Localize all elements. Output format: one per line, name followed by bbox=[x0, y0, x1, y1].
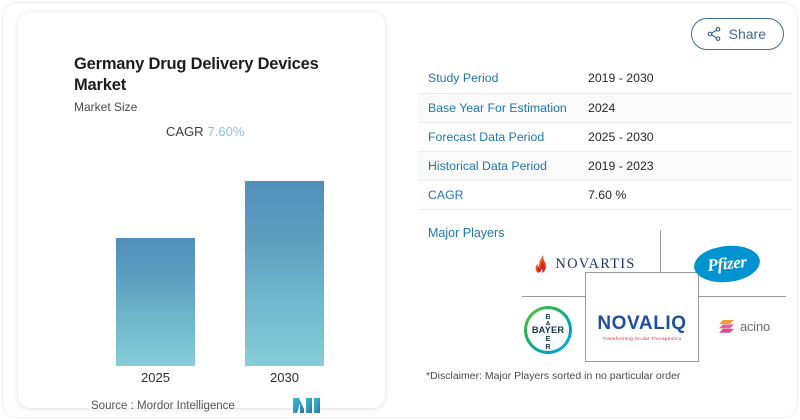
pfizer-logo: Pfizer bbox=[672, 238, 782, 290]
market-size-chart-card: Germany Drug Delivery Devices Market Mar… bbox=[18, 12, 385, 408]
table-row: Study Period 2019 - 2030 bbox=[418, 64, 792, 93]
source-name: Mordor Intelligence bbox=[137, 400, 235, 412]
row-key: Historical Data Period bbox=[418, 151, 578, 180]
bayer-logo: BAYER BAYER bbox=[516, 302, 580, 358]
row-value: 7.60 % bbox=[578, 180, 792, 209]
chart-source: Source : Mordor Intelligence bbox=[91, 400, 235, 412]
row-key: CAGR bbox=[418, 180, 578, 209]
table-row: Forecast Data Period 2025 - 2030 bbox=[418, 122, 792, 151]
major-players-grid: NOVARTIS Pfizer BAYER BAYER NOVALIQ bbox=[506, 230, 786, 362]
row-key: Base Year For Estimation bbox=[418, 93, 578, 122]
row-value: 2019 - 2030 bbox=[578, 64, 792, 93]
novartis-logo: NOVARTIS bbox=[512, 240, 658, 288]
table-row: Historical Data Period 2019 - 2023 bbox=[418, 151, 792, 180]
bayer-wordmark: BAYER bbox=[531, 325, 565, 335]
novaliq-wordmark: NOVALIQ bbox=[597, 314, 686, 334]
cagr-label: CAGR bbox=[166, 124, 204, 139]
row-value: 2024 bbox=[578, 93, 792, 122]
acino-diamond-icon bbox=[718, 319, 735, 334]
report-details-panel: Share Study Period 2019 - 2030 Base Year… bbox=[408, 8, 792, 412]
chart-subtitle: Market Size bbox=[74, 100, 137, 114]
chart-bar-2030 bbox=[245, 181, 324, 366]
row-value: 2025 - 2030 bbox=[578, 122, 792, 151]
novartis-flame-icon bbox=[534, 254, 548, 274]
row-key: Study Period bbox=[418, 64, 578, 93]
row-key: Forecast Data Period bbox=[418, 122, 578, 151]
acino-logo: acino bbox=[702, 308, 786, 344]
share-button-label: Share bbox=[729, 26, 766, 42]
pfizer-wordmark: Pfizer bbox=[706, 252, 747, 276]
chart-cagr-annotation: CAGR7.60% bbox=[166, 124, 244, 139]
row-value: 2019 - 2023 bbox=[578, 151, 792, 180]
chart-xtick-2030: 2030 bbox=[245, 370, 324, 385]
novaliq-tagline: Transforming Ocular Therapeutics bbox=[597, 336, 686, 341]
acino-wordmark: acino bbox=[740, 319, 770, 334]
table-row: Base Year For Estimation 2024 bbox=[418, 93, 792, 122]
novaliq-logo: NOVALIQ Transforming Ocular Therapeutics bbox=[586, 302, 698, 352]
novartis-wordmark: NOVARTIS bbox=[555, 256, 635, 273]
major-players-disclaimer: *Disclaimer: Major Players sorted in no … bbox=[426, 370, 680, 382]
chart-xtick-2025: 2025 bbox=[116, 370, 195, 385]
chart-bar-2025 bbox=[116, 238, 195, 366]
report-card-page: Germany Drug Delivery Devices Market Mar… bbox=[0, 0, 800, 420]
share-button[interactable]: Share bbox=[691, 18, 784, 50]
share-nodes-icon bbox=[706, 26, 722, 42]
source-label: Source : bbox=[91, 400, 134, 412]
major-players-title: Major Players bbox=[428, 226, 504, 240]
chart-title: Germany Drug Delivery Devices Market bbox=[74, 54, 364, 96]
mordor-intelligence-mi-logo bbox=[291, 395, 325, 415]
cagr-value: 7.60% bbox=[204, 124, 245, 139]
report-attributes-table: Study Period 2019 - 2030 Base Year For E… bbox=[418, 64, 792, 210]
table-row: CAGR 7.60 % bbox=[418, 180, 792, 209]
